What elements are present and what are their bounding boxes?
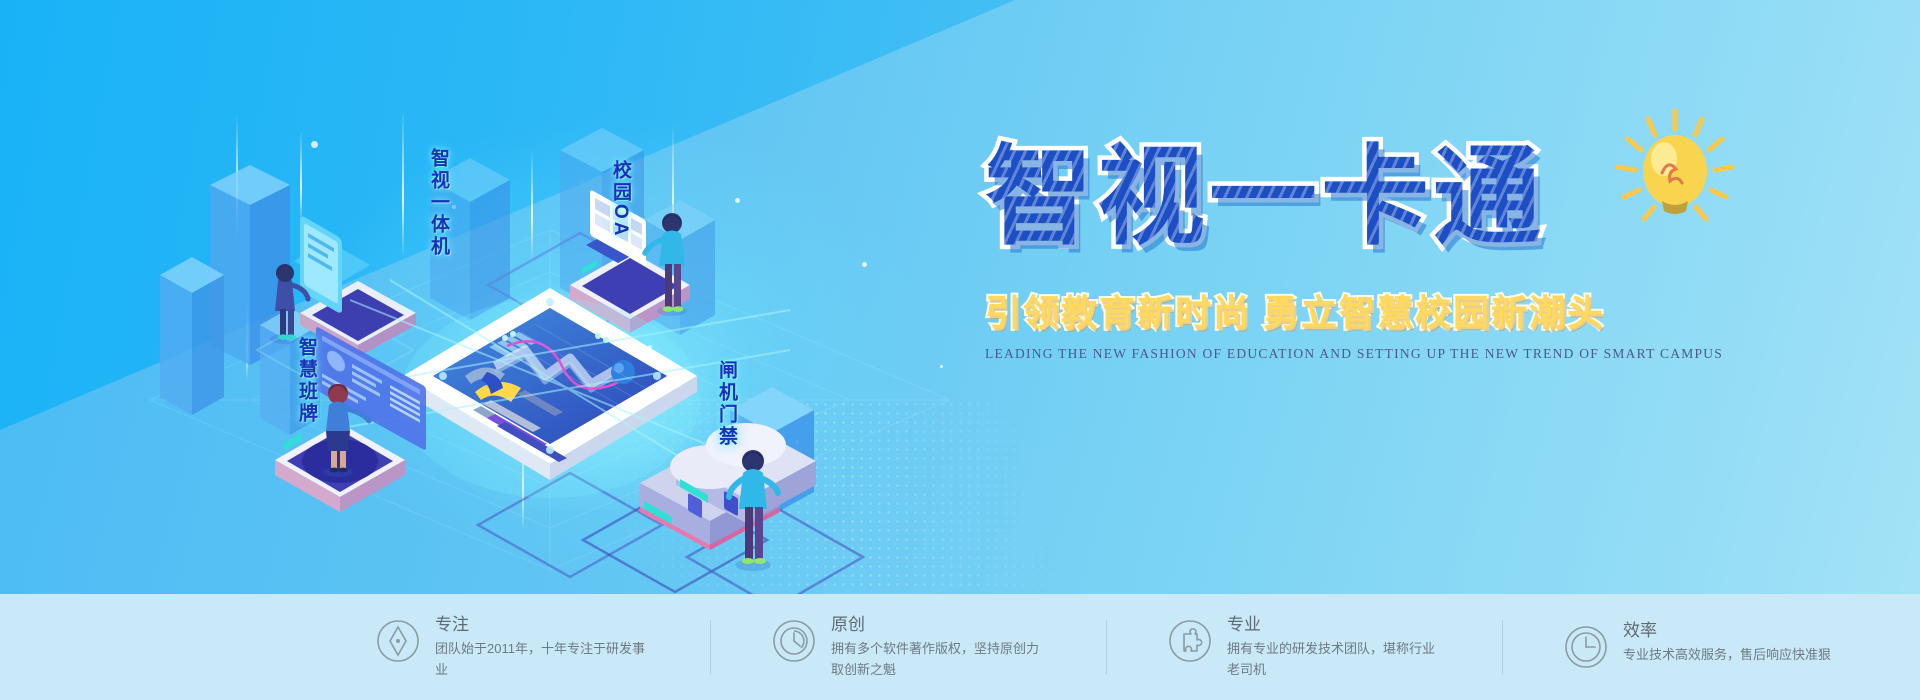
feature-desc: 专业技术高效服务，售后响应快准狠 bbox=[1623, 645, 1838, 665]
feature-text: 专业 拥有专业的研发技术团队，堪称行业老司机 bbox=[1227, 614, 1442, 679]
headline-block: 智视一卡通 智视一卡通 引领教育新时尚 勇立智慧校园新潮头 LEADING TH… bbox=[985, 140, 1715, 362]
label-campus-oa: 校园OA bbox=[607, 160, 634, 239]
feature-text: 原创 拥有多个软件著作版权，坚持原创力取创新之魁 bbox=[831, 614, 1046, 679]
feature-divider bbox=[710, 620, 711, 674]
subtitle-cn: 引领教育新时尚 勇立智慧校园新潮头 bbox=[985, 284, 1715, 336]
feature-desc: 拥有专业的研发技术团队，堪称行业老司机 bbox=[1227, 639, 1442, 679]
clock-icon bbox=[1563, 624, 1609, 675]
feature-item-professional: 专业 拥有专业的研发技术团队，堪称行业老司机 bbox=[1167, 614, 1442, 679]
feature-item-original: 原创 拥有多个软件著作版权，坚持原创力取创新之魁 bbox=[771, 614, 1046, 679]
label-all-in-one: 智视一体机 bbox=[425, 148, 452, 258]
puzzle-icon bbox=[1167, 618, 1213, 669]
sparkle bbox=[862, 262, 867, 267]
feature-title: 专注 bbox=[435, 616, 650, 633]
feature-divider bbox=[1106, 620, 1107, 674]
sparkle bbox=[735, 198, 740, 203]
feature-desc: 拥有多个软件著作版权，坚持原创力取创新之魁 bbox=[831, 639, 1046, 679]
platform-smart-class-board bbox=[230, 320, 445, 530]
feature-item-focus: 专注 团队始于2011年，十年专注于研发事业 bbox=[375, 614, 650, 679]
feature-text: 专注 团队始于2011年，十年专注于研发事业 bbox=[435, 614, 650, 679]
sparkle bbox=[940, 365, 943, 368]
page-title: 智视一卡通 bbox=[985, 140, 1715, 253]
feature-divider bbox=[1502, 620, 1503, 674]
feature-title: 原创 bbox=[831, 616, 1046, 633]
feature-bar: 专注 团队始于2011年，十年专注于研发事业 原创 拥有多个软件著作版权，坚持原… bbox=[0, 594, 1920, 700]
title-wrap: 智视一卡通 智视一卡通 bbox=[985, 140, 1715, 270]
compass-icon bbox=[375, 618, 421, 669]
feature-item-efficiency: 效率 专业技术高效服务，售后响应快准狠 bbox=[1563, 620, 1838, 675]
feature-desc: 团队始于2011年，十年专注于研发事业 bbox=[435, 639, 650, 679]
feature-title: 专业 bbox=[1227, 616, 1442, 633]
feature-text: 效率 专业技术高效服务，售后响应快准狠 bbox=[1623, 620, 1838, 665]
promo-banner: 智视一体机 bbox=[0, 0, 1920, 700]
subtitle-en: LEADING THE NEW FASHION OF EDUCATION AND… bbox=[985, 346, 1715, 362]
feature-title: 效率 bbox=[1623, 622, 1838, 639]
label-smart-class-board: 智慧班牌 bbox=[293, 337, 320, 425]
label-turnstile-access: 闸机门禁 bbox=[713, 360, 740, 448]
turnstile-person bbox=[715, 445, 795, 575]
stopwatch-icon bbox=[771, 618, 817, 669]
